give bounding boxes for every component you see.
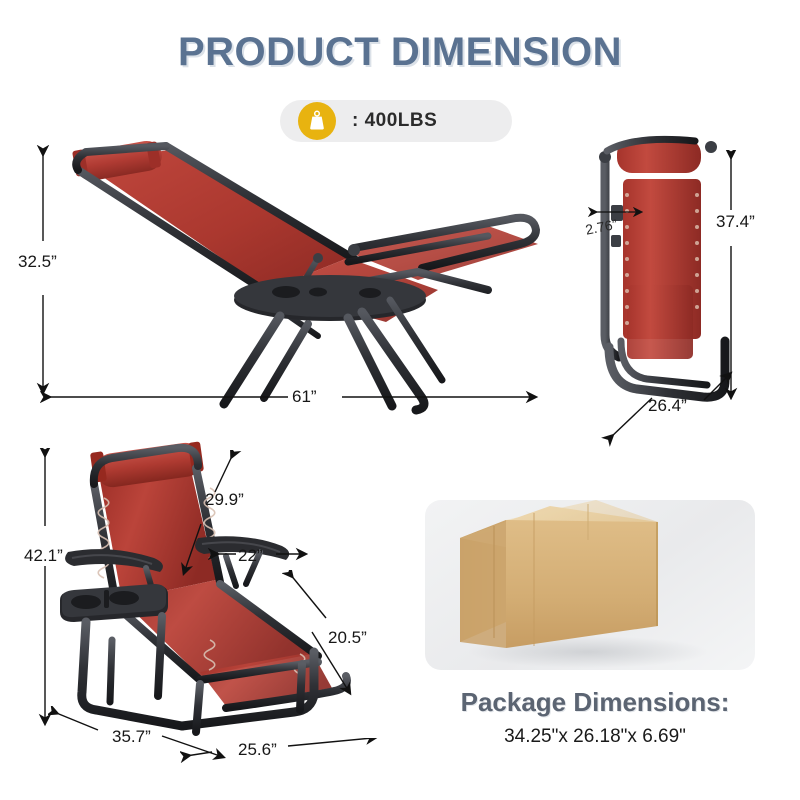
package-box-image [438, 500, 738, 676]
package-dimensions-heading: Package Dimensions: [415, 687, 775, 718]
weight-capacity-badge: : 400LBS [280, 100, 512, 142]
weight-capacity-label: : 400LBS [352, 110, 437, 132]
dimension-label-22: 22” [238, 546, 263, 566]
cup-holder-tray [60, 584, 168, 622]
dimension-label-29-9: 29.9” [205, 490, 244, 510]
page-title: PRODUCT DIMENSION [0, 30, 800, 75]
dimension-label-25-6: 25.6” [238, 740, 277, 760]
reclined-chair-side-view [18, 140, 578, 420]
dimension-line-height-42-1 [32, 448, 58, 728]
dimension-label-26-4: 26.4” [648, 396, 687, 416]
product-dimension-infographic: PRODUCT DIMENSION : 400LBS [0, 0, 800, 800]
dimension-line-thickness-2-76 [588, 205, 648, 219]
package-dimensions-value: 34.25"x 26.18"x 6.69" [415, 726, 775, 748]
dimension-line-width-25-6 [180, 738, 380, 768]
dimension-label-32-5: 32.5” [18, 252, 57, 272]
dimension-label-20-5: 20.5” [328, 628, 367, 648]
dimension-label-35-7: 35.7” [112, 727, 151, 747]
dimension-label-61: 61” [292, 387, 317, 407]
dimension-label-37-4: 37.4” [716, 212, 755, 232]
dimension-line-length-61 [40, 385, 540, 409]
weight-icon [298, 102, 336, 140]
dimension-label-42-1: 42.1” [24, 546, 63, 566]
